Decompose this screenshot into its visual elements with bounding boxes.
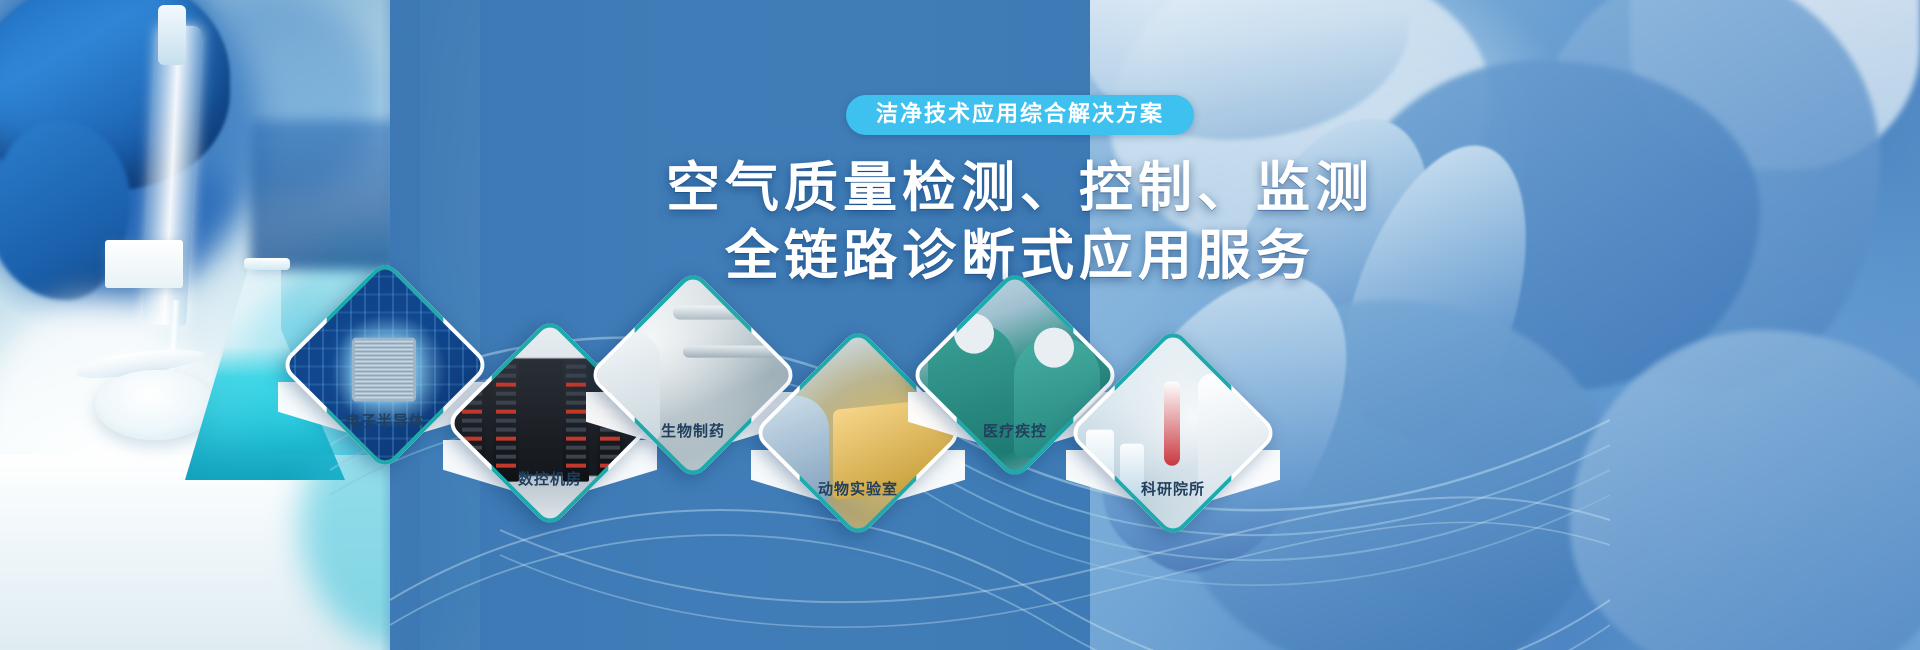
surgeon-head-icon <box>954 314 994 354</box>
pipe-icon <box>683 346 778 358</box>
card-label: 数控机房 <box>460 468 640 489</box>
hero-banner: 洁净技术应用综合解决方案 空气质量检测、控制、监测 全链路诊断式应用服务 电子半… <box>0 0 1920 650</box>
card-label: 动物实验室 <box>768 478 948 499</box>
card-label: 电子半导体 <box>295 410 475 431</box>
cpu-chip-icon <box>352 338 416 402</box>
industry-card-row: 电子半导体 数控机房 <box>0 0 1920 650</box>
test-tube-icon <box>1164 382 1180 466</box>
card-label: 科研院所 <box>1083 478 1263 499</box>
server-rack-icon <box>493 360 519 482</box>
card-label: 生物制药 <box>603 420 783 441</box>
pipe-icon <box>673 306 783 320</box>
server-rack-icon <box>563 360 589 482</box>
surgeon-head-icon <box>1034 328 1074 368</box>
